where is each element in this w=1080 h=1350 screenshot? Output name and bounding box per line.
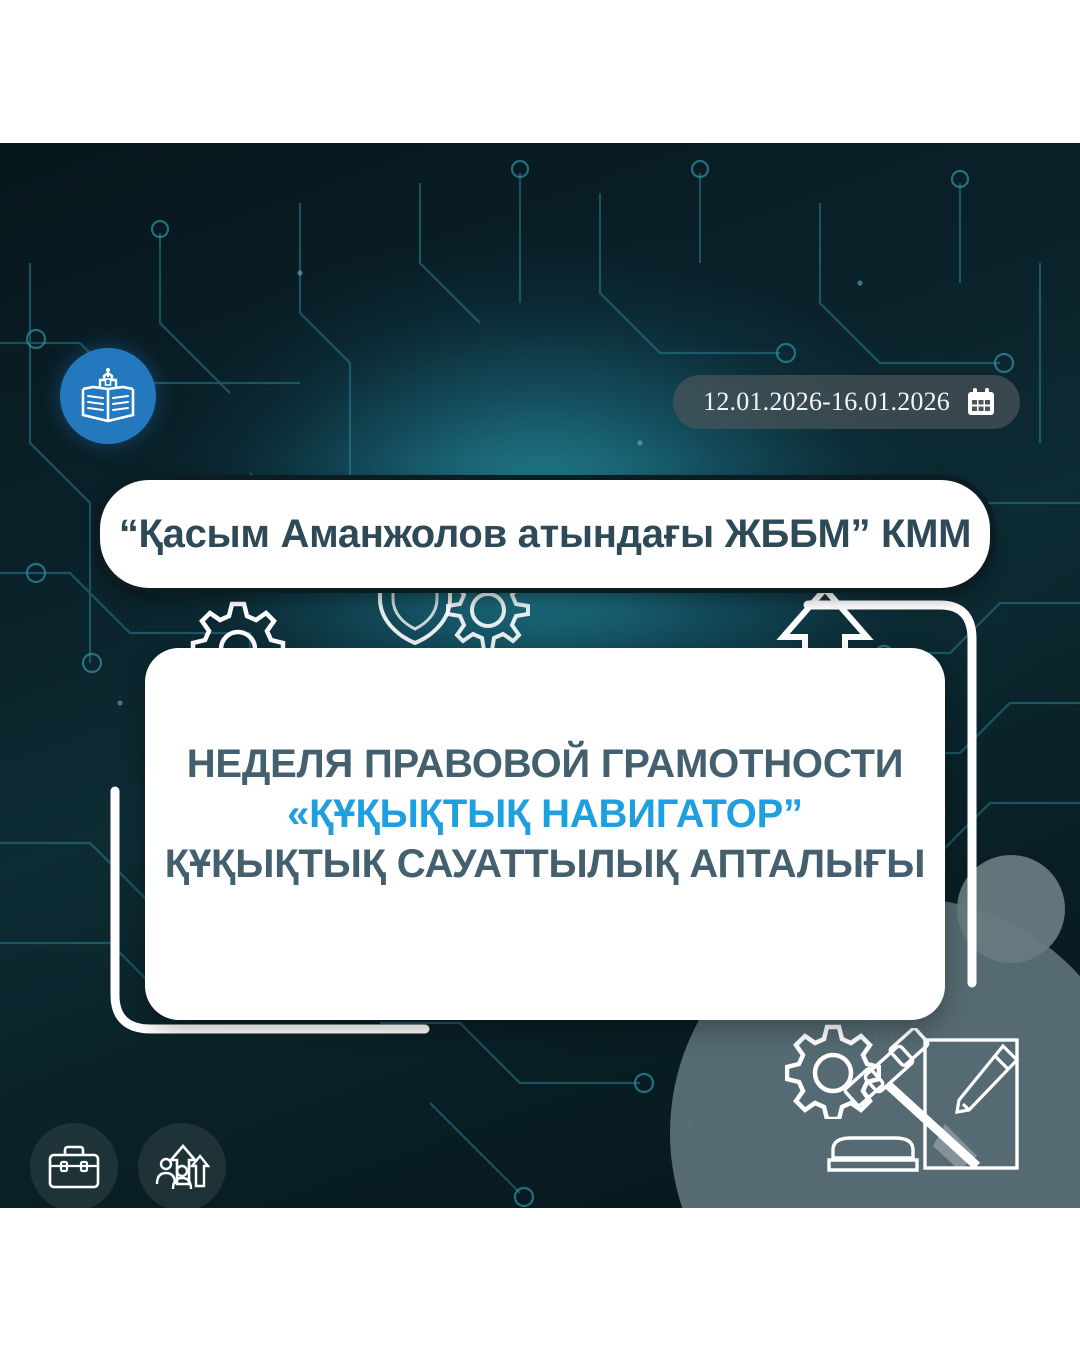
headline-line-3: ҚҰҚЫҚТЫҚ САУАТТЫЛЫҚ АПТАЛЫҒЫ [165,840,925,889]
briefcase-icon-badge [30,1123,118,1208]
calendar-icon [966,387,996,417]
date-range-badge[interactable]: 12.01.2026-16.01.2026 [673,375,1020,429]
briefcase-icon [47,1144,101,1190]
people-growth-arrows-icon [154,1142,210,1192]
date-range-text: 12.01.2026-16.01.2026 [703,387,950,417]
dark-panel: 12.01.2026-16.01.2026 [0,143,1080,1208]
school-logo-badge[interactable] [60,348,156,444]
headline-line-2: «ҚҰҚЫҚТЫҚ НАВИГАТОР” [287,789,803,840]
poster-root: 12.01.2026-16.01.2026 [0,0,1080,1350]
school-book-icon [77,367,139,425]
school-title-pill: “Қасым Аманжолов атындағы ЖББМ” КММ [95,475,995,593]
headline-card: НЕДЕЛЯ ПРАВОВОЙ ГРАМОТНОСТИ «ҚҰҚЫҚТЫҚ НА… [145,648,945,1020]
headline-line-1: НЕДЕЛЯ ПРАВОВОЙ ГРАМОТНОСТИ [187,740,904,789]
gavel-document-pen-icon [817,1028,1032,1208]
people-growth-icon-badge [138,1123,226,1208]
page-title: “Қасым Аманжолов атындағы ЖББМ” КММ [119,512,971,557]
